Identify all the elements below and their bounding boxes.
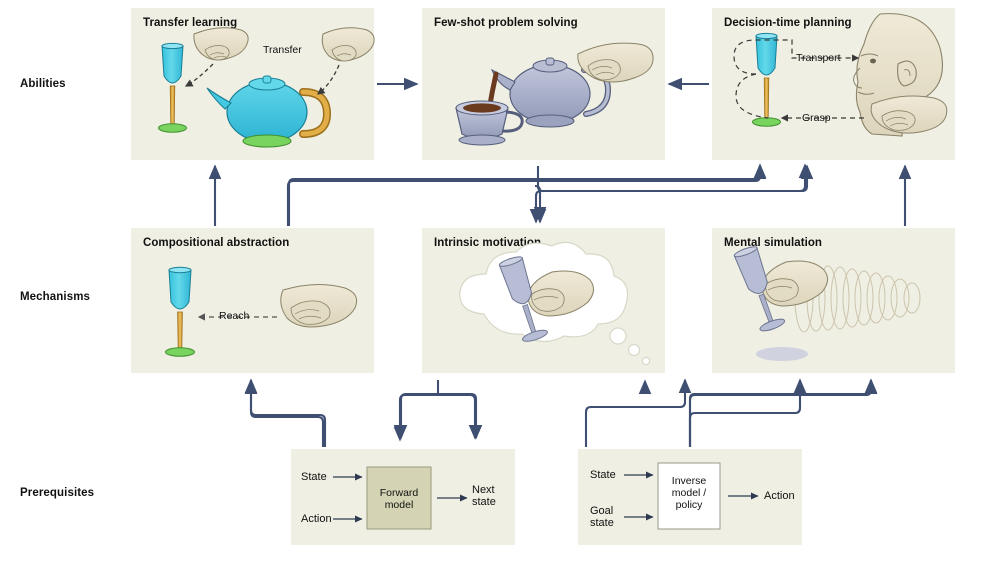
thought-bubble-icon: [610, 328, 626, 344]
panel-title-compositional-abstraction: Compositional abstraction: [143, 237, 289, 249]
label-action-output: Action: [764, 490, 795, 502]
wire-bus-to-intrinsic-right: [470, 381, 645, 413]
wire-compabs-to-planning: [288, 166, 760, 226]
hand-icon: [322, 28, 374, 61]
panel-title-intrinsic-motivation: Intrinsic motivation: [434, 237, 541, 249]
champagne-glass-icon: [159, 43, 187, 132]
tea-stream-icon: [489, 74, 496, 110]
annotation-reach: Reach: [219, 310, 249, 322]
panel-mental-simulation[interactable]: Mental simulation: [712, 228, 955, 373]
wire-midrow-to-planning-2: [538, 166, 807, 191]
shadow-icon: [756, 347, 808, 361]
panel-intrinsic-motivation[interactable]: Intrinsic motivation: [422, 228, 665, 373]
hand-icon: [871, 96, 947, 133]
panel-title-transfer-learning: Transfer learning: [143, 17, 237, 29]
wire-bus-elbow: [535, 186, 540, 198]
wire-inv-to-mental-right: [690, 380, 871, 399]
mental-simulation-artwork: [712, 228, 955, 373]
label-state: State: [590, 469, 616, 481]
curved-dashed-arrow-icon: [318, 65, 339, 94]
teapot-pouring-icon: [492, 58, 608, 127]
annotation-transport: Transport: [796, 52, 841, 64]
hand-icon: [281, 284, 357, 327]
wire-fwd-to-compabs: [251, 380, 323, 447]
panel-inverse-model-policy[interactable]: State Goal state Inverse model / policy …: [578, 449, 802, 545]
inverse-model-box-label-line3: policy: [658, 499, 720, 512]
inverse-model-box-label-line2: model /: [658, 487, 720, 500]
label-state: State: [301, 471, 327, 483]
panel-title-decision-time-planning: Decision-time planning: [724, 17, 852, 29]
intrinsic-motivation-artwork: [422, 228, 665, 373]
forward-model-box-label-line1: Forward: [367, 487, 431, 500]
inverse-model-box-label-line1: Inverse: [658, 475, 720, 488]
row-label-abilities: Abilities: [20, 78, 66, 90]
annotation-grasp: Grasp: [802, 112, 831, 124]
motion-trail-icon: [795, 264, 920, 332]
diagram-canvas: Abilities Mechanisms Prerequisites Trans…: [0, 0, 985, 564]
panel-decision-time-planning[interactable]: Decision-time planning: [712, 8, 955, 160]
panel-compositional-abstraction[interactable]: Compositional abstraction Reach: [131, 228, 374, 373]
head-profile-icon: [854, 14, 943, 136]
panel-title-mental-simulation: Mental simulation: [724, 237, 822, 249]
compositional-abstraction-artwork: [131, 228, 374, 373]
fwd-down-bus-top: [401, 394, 476, 399]
panel-transfer-learning[interactable]: Transfer learning: [131, 8, 374, 160]
label-next-state-line2: state: [472, 496, 496, 508]
thought-bubble-icon: [642, 357, 649, 364]
row-label-mechanisms: Mechanisms: [20, 291, 90, 303]
label-goal-state-line2: state: [590, 517, 614, 529]
teacup-icon: [456, 101, 522, 145]
panel-title-few-shot-problem-solving: Few-shot problem solving: [434, 17, 578, 29]
hand-icon: [194, 28, 248, 60]
forward-model-box-label-line2: model: [367, 499, 431, 512]
wire-inverse-bus: [401, 394, 587, 438]
thought-cloud-icon: [460, 242, 650, 364]
wire-inv-to-mental-left: [586, 380, 685, 447]
annotation-transfer: Transfer: [263, 44, 302, 56]
dashed-return-path-icon: [736, 74, 768, 118]
bus-intrinsic-down-and-planning-right: [536, 165, 805, 196]
arrow-down-into-forward-panel-right: [400, 395, 475, 438]
label-next-state-line1: Next: [472, 484, 495, 496]
panel-few-shot-problem-solving[interactable]: Few-shot problem solving: [422, 8, 665, 160]
hand-holding-glass-icon: [732, 244, 827, 333]
hand-holding-glass-icon: [498, 255, 594, 344]
curved-dashed-arrow-icon: [186, 64, 213, 86]
transfer-learning-artwork: [131, 8, 374, 160]
label-goal-state-line1: Goal: [590, 505, 613, 517]
decision-time-planning-artwork: [712, 8, 955, 160]
few-shot-artwork: [422, 8, 665, 160]
champagne-glass-icon: [753, 33, 781, 126]
panel-forward-model[interactable]: State Action Forward model Next state: [291, 449, 515, 545]
wire-inverse-to-mental-2: [690, 381, 871, 447]
champagne-glass-icon: [166, 267, 195, 356]
row-label-prerequisites: Prerequisites: [20, 487, 94, 499]
wire-forward-to-compabs: [251, 381, 325, 447]
wire-bus-down-join: [540, 191, 545, 196]
bus-compabs-to-planning-left: [289, 165, 760, 226]
hand-icon: [578, 43, 653, 82]
thought-bubble-icon: [629, 345, 640, 356]
teapot-icon: [207, 76, 327, 147]
wire-fwd-bus-right: [399, 399, 585, 447]
wire-inverse-to-mental: [690, 381, 800, 447]
wire-inv-to-mental-mid: [690, 380, 800, 447]
label-action: Action: [301, 513, 332, 525]
